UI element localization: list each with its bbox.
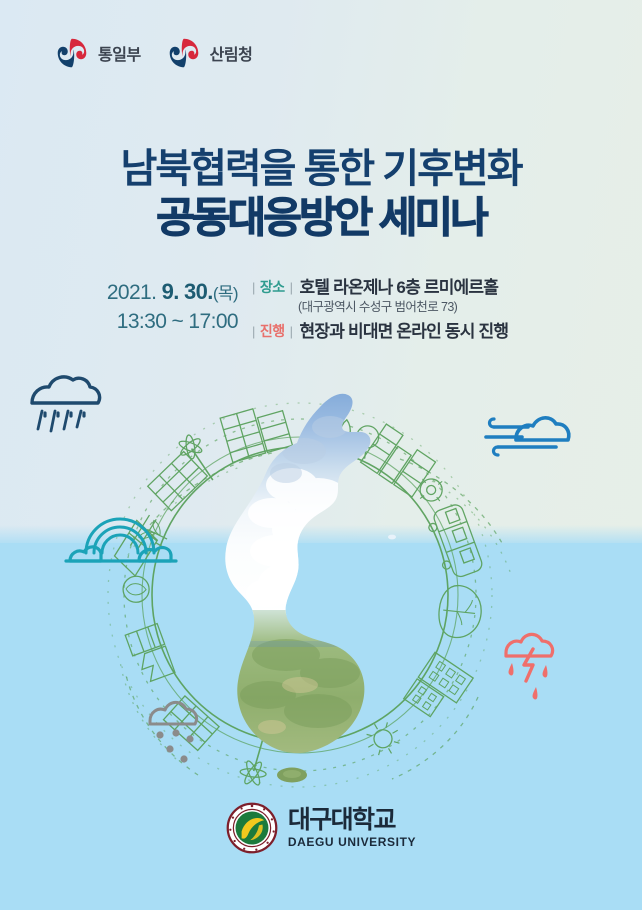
separator-right: | [290, 280, 293, 295]
event-mode-row: | 진행 | 현장과 비대면 온라인 동시 진행 [252, 321, 552, 343]
organizer-logo-forest-service: 산림청 [167, 36, 253, 70]
illustration-area [0, 355, 642, 805]
mode-value: 현장과 비대면 온라인 동시 진행 [300, 321, 509, 343]
title-line-2: 공동대응방안 세미나 [0, 194, 642, 243]
wind-cloud-icon [486, 418, 569, 455]
rain-cloud-icon [32, 377, 100, 431]
thunderstorm-cloud-icon [506, 634, 553, 699]
separator-left: | [252, 324, 255, 339]
place-label: 장소 [260, 277, 285, 297]
title-line-1: 남북협력을 통한 기후변화 [0, 146, 642, 192]
university-name-kr: 대구대학교 [288, 808, 416, 833]
place-label-tag: | 장소 | [252, 277, 293, 297]
korea-government-taeguk-icon [55, 36, 89, 70]
date-day: 30. [184, 279, 213, 304]
event-time: 13:30 ~ 17:00 [90, 307, 238, 337]
date-weekday: (목) [213, 284, 238, 303]
daegu-university-emblem [226, 802, 278, 854]
place-value: 호텔 라온제나 6층 르미에르홀 [300, 277, 499, 299]
organizer-logo-unification: 통일부 [55, 36, 141, 70]
organizer-logos: 통일부 산림청 [55, 36, 252, 70]
mode-label: 진행 [260, 321, 285, 341]
korean-peninsula-map [210, 385, 396, 783]
event-date: 2021. 9. 30.(목) [90, 277, 238, 307]
separator-right: | [290, 324, 293, 339]
university-name-en: DAEGU UNIVERSITY [288, 836, 416, 848]
event-datetime: 2021. 9. 30.(목) 13:30 ~ 17:00 [90, 277, 252, 343]
organizer-name: 통일부 [98, 41, 141, 65]
date-year: 2021. [107, 281, 157, 304]
korea-government-taeguk-icon [167, 36, 201, 70]
mode-label-tag: | 진행 | [252, 321, 293, 341]
organizer-name: 산림청 [210, 41, 253, 65]
place-address: (대구광역시 수성구 범어천로 73) [298, 300, 552, 315]
seminar-poster: 통일부 산림청 남북협력을 통한 기후변화 공동대응방안 세미나 2021. 9… [0, 0, 642, 910]
rainbow-cloud-icon [66, 519, 176, 561]
event-info: 2021. 9. 30.(목) 13:30 ~ 17:00 | 장소 | 호텔 … [0, 277, 642, 343]
snow-cloud-icon [150, 702, 197, 762]
event-details: | 장소 | 호텔 라온제나 6층 르미에르홀 (대구광역시 수성구 범어천로 … [252, 277, 552, 343]
date-month: 9. [162, 279, 179, 304]
eco-illustration [0, 355, 642, 805]
university-logo: 대구대학교 DAEGU UNIVERSITY [0, 802, 642, 854]
separator-left: | [252, 280, 255, 295]
event-place-row: | 장소 | 호텔 라온제나 6층 르미에르홀 [252, 277, 552, 299]
university-name: 대구대학교 DAEGU UNIVERSITY [288, 808, 416, 848]
poster-title: 남북협력을 통한 기후변화 공동대응방안 세미나 [0, 146, 642, 243]
